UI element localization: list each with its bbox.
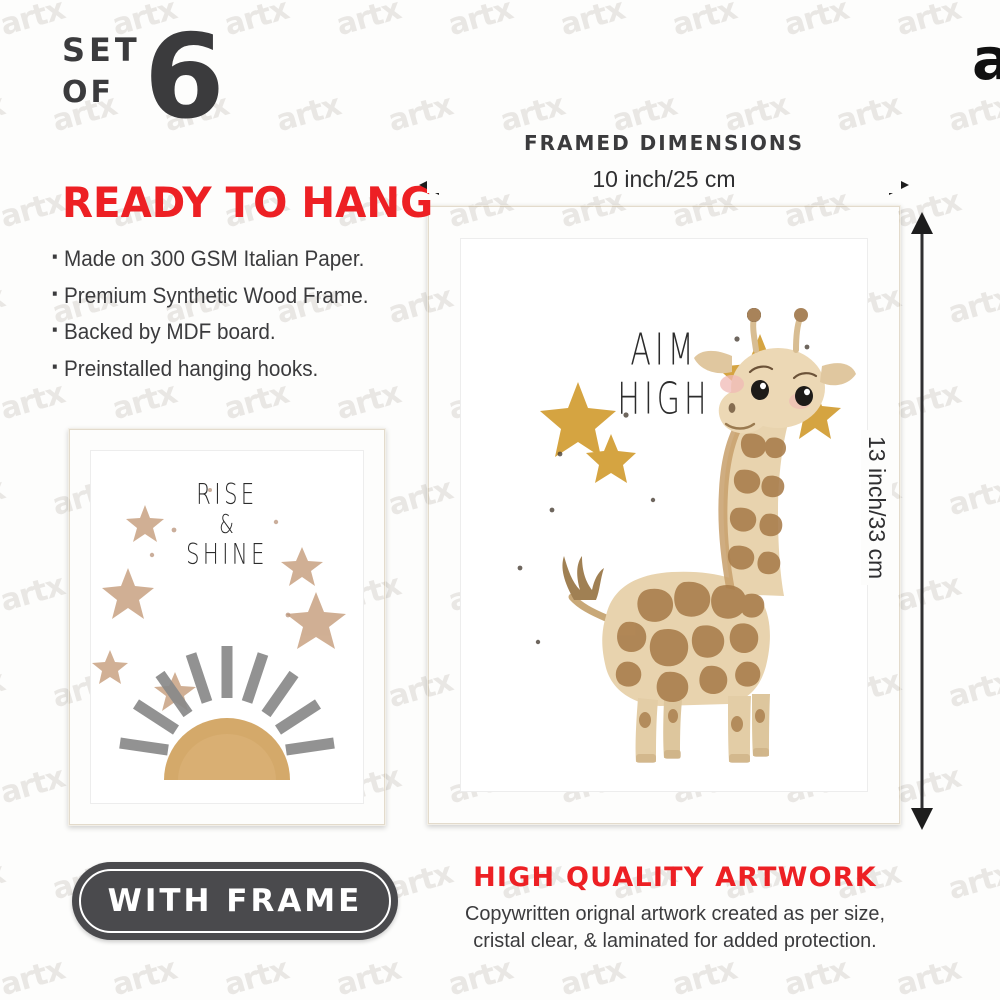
with-frame-label: WITH FRAME xyxy=(108,883,363,919)
watermark-text: artx xyxy=(944,472,1000,523)
ready-to-hang-heading: READY TO HANG xyxy=(62,182,433,224)
watermark-text: artx xyxy=(332,0,404,43)
list-item: ▪ Preinstalled hanging hooks. xyxy=(52,358,392,381)
watermark-text: artx xyxy=(556,0,628,43)
high-quality-heading: HIGH QUALITY ARTWORK xyxy=(410,862,940,893)
rise-line-3: SHINE xyxy=(90,540,364,572)
height-dimension-arrow xyxy=(905,212,939,830)
watermark-text: artx xyxy=(108,952,180,1000)
feature-bullet-list: ▪ Made on 300 GSM Italian Paper. ▪ Premi… xyxy=(52,248,422,394)
set-label: SET xyxy=(62,34,141,66)
watermark-text: artx xyxy=(0,664,8,715)
large-poster-text: AIM HIGH xyxy=(460,334,868,416)
aim-line-1: AIM xyxy=(460,327,868,375)
bullet-text: Premium Synthetic Wood Frame. xyxy=(64,285,368,308)
bullet-marker-icon: ▪ xyxy=(52,248,58,267)
bullet-text: Made on 300 GSM Italian Paper. xyxy=(64,248,364,271)
bullet-text: Preinstalled hanging hooks. xyxy=(64,358,318,381)
watermark-text: artx xyxy=(0,280,8,331)
small-poster-text: RISE & SHINE xyxy=(90,484,364,567)
small-poster-artwork: RISE & SHINE xyxy=(90,450,364,804)
high-quality-description: Copywritten orignal artwork created as p… xyxy=(400,900,950,954)
rise-line-1: RISE xyxy=(90,480,364,512)
height-dimension-label: 13 inch/33 cm xyxy=(861,430,892,585)
watermark-text: artx xyxy=(0,952,68,1000)
width-dimension-label: 10 inch/25 cm xyxy=(427,166,901,193)
watermark-text: artx xyxy=(668,0,740,43)
watermark-text: artx xyxy=(0,472,8,523)
watermark-text: artx xyxy=(0,856,8,907)
watermark-text: artx xyxy=(944,280,1000,331)
watermark-text: artx xyxy=(0,760,68,811)
watermark-text: artx xyxy=(944,664,1000,715)
watermark-text: artx xyxy=(892,0,964,43)
set-of-badge: SET OF 6 xyxy=(56,28,236,128)
watermark-text: artx xyxy=(0,184,68,235)
infographic-root: artxartxartxartxartxartxartxartxartxartx… xyxy=(0,0,1000,1000)
watermark-text: artx xyxy=(220,952,292,1000)
watermark-text: artx xyxy=(0,88,8,139)
large-framed-poster[interactable]: AIM HIGH xyxy=(427,205,901,825)
rise-line-2: & xyxy=(90,511,364,540)
watermark-text: artx xyxy=(272,88,344,139)
description-line-1: Copywritten orignal artwork created as p… xyxy=(408,900,942,927)
bullet-text: Backed by MDF board. xyxy=(64,321,276,344)
watermark-text: artx xyxy=(556,952,628,1000)
aim-line-2: HIGH xyxy=(460,376,868,424)
framed-dimensions-title: FRAMED DIMENSIONS xyxy=(427,131,901,155)
watermark-text: artx xyxy=(0,568,68,619)
bullet-marker-icon: ▪ xyxy=(52,321,58,340)
watermark-text: artx xyxy=(780,952,852,1000)
large-poster-artwork: AIM HIGH xyxy=(460,238,868,792)
watermark-text: artx xyxy=(668,952,740,1000)
watermark-text: artx xyxy=(332,952,404,1000)
of-label: OF xyxy=(62,78,114,108)
small-framed-poster[interactable]: RISE & SHINE xyxy=(68,428,386,826)
description-line-2: cristal clear, & laminated for added pro… xyxy=(408,927,942,954)
watermark-text: artx xyxy=(944,856,1000,907)
watermark-text: artx xyxy=(780,0,852,43)
set-count: 6 xyxy=(144,20,225,136)
list-item: ▪ Premium Synthetic Wood Frame. xyxy=(52,285,392,308)
watermark-text: artx xyxy=(892,952,964,1000)
with-frame-badge[interactable]: WITH FRAME xyxy=(72,862,398,940)
watermark-text: artx xyxy=(444,952,516,1000)
list-item: ▪ Backed by MDF board. xyxy=(52,321,392,344)
watermark-text: artx xyxy=(944,88,1000,139)
aim-high-giraffe-illustration xyxy=(460,238,868,792)
bullet-marker-icon: ▪ xyxy=(52,358,58,377)
list-item: ▪ Made on 300 GSM Italian Paper. xyxy=(52,248,392,271)
watermark-text: artx xyxy=(444,0,516,43)
bullet-marker-icon: ▪ xyxy=(52,285,58,304)
logo-wordmark: art xyxy=(972,30,1000,88)
